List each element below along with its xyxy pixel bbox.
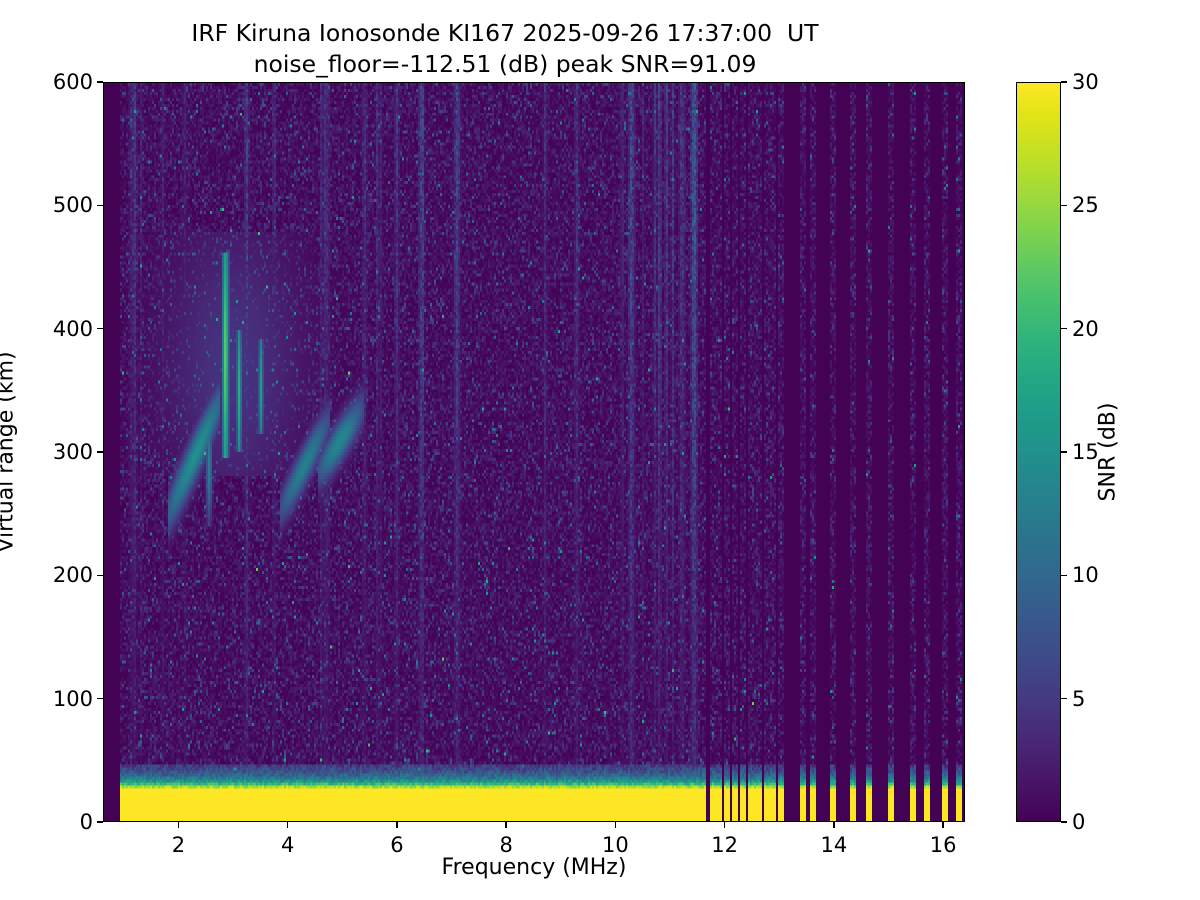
- colorbar-tick-mark: [1061, 205, 1067, 207]
- y-tick-mark: [97, 205, 103, 207]
- y-axis-label: Virtual range (km): [0, 351, 19, 552]
- colorbar-tick-label: 20: [1072, 317, 1099, 341]
- y-tick-label: 300: [53, 440, 93, 464]
- x-tick-label: 6: [390, 833, 403, 857]
- x-tick-label: 4: [281, 833, 294, 857]
- y-tick-label: 600: [53, 70, 93, 94]
- colorbar-tick-mark: [1061, 698, 1067, 700]
- colorbar-tick-mark: [1061, 821, 1067, 823]
- ionogram-canvas: [104, 83, 964, 821]
- x-tick-mark: [178, 822, 180, 828]
- x-tick-mark: [615, 822, 617, 828]
- x-tick-label: 8: [499, 833, 512, 857]
- x-tick-mark: [942, 822, 944, 828]
- x-tick-label: 14: [821, 833, 848, 857]
- y-tick-mark: [97, 575, 103, 577]
- y-tick-mark: [97, 451, 103, 453]
- colorbar-tick-label: 25: [1072, 193, 1099, 217]
- ionogram-heatmap: [104, 83, 964, 821]
- y-tick-label: 200: [53, 563, 93, 587]
- ionogram-plot-area[interactable]: [103, 82, 965, 822]
- x-tick-label: 12: [711, 833, 738, 857]
- x-tick-mark: [505, 822, 507, 828]
- x-tick-mark: [287, 822, 289, 828]
- y-tick-label: 100: [53, 687, 93, 711]
- colorbar[interactable]: [1016, 82, 1061, 822]
- x-tick-label: 10: [602, 833, 629, 857]
- y-tick-label: 400: [53, 317, 93, 341]
- colorbar-label: SNR (dB): [1096, 403, 1121, 502]
- y-tick-mark: [97, 81, 103, 83]
- colorbar-gradient: [1017, 83, 1060, 821]
- y-tick-mark: [97, 328, 103, 330]
- chart-subtitle: noise_floor=-112.51 (dB) peak SNR=91.09: [0, 49, 1010, 80]
- colorbar-tick-label: 10: [1072, 563, 1099, 587]
- colorbar-tick-mark: [1061, 328, 1067, 330]
- x-tick-label: 16: [930, 833, 957, 857]
- colorbar-tick-mark: [1061, 451, 1067, 453]
- colorbar-tick-label: 5: [1072, 687, 1085, 711]
- x-tick-mark: [833, 822, 835, 828]
- y-tick-mark: [97, 698, 103, 700]
- x-tick-mark: [396, 822, 398, 828]
- x-axis-label: Frequency (MHz): [442, 855, 627, 880]
- y-tick-mark: [97, 821, 103, 823]
- x-tick-label: 2: [172, 833, 185, 857]
- y-tick-label: 500: [53, 193, 93, 217]
- y-tick-label: 0: [80, 810, 93, 834]
- colorbar-tick-mark: [1061, 81, 1067, 83]
- chart-title-block: IRF Kiruna Ionosonde KI167 2025-09-26 17…: [0, 18, 1010, 79]
- chart-title: IRF Kiruna Ionosonde KI167 2025-09-26 17…: [0, 18, 1010, 49]
- colorbar-tick-mark: [1061, 575, 1067, 577]
- x-tick-mark: [724, 822, 726, 828]
- colorbar-tick-label: 30: [1072, 70, 1099, 94]
- colorbar-tick-label: 0: [1072, 810, 1085, 834]
